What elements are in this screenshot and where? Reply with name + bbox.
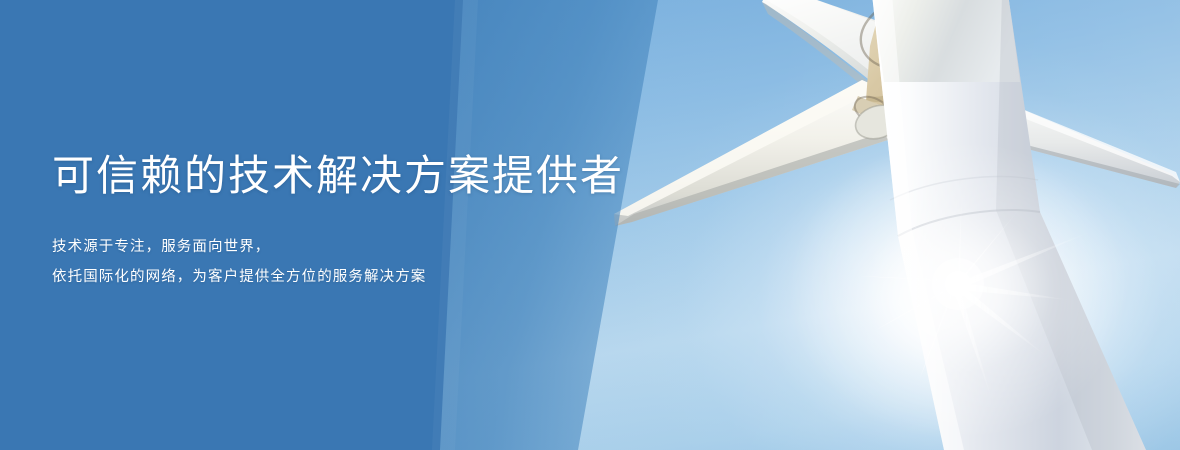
banner-headline: 可信赖的技术解决方案提供者	[52, 150, 692, 202]
sun-flare-icon	[788, 140, 1128, 440]
banner-copy: 可信赖的技术解决方案提供者 技术源于专注，服务面向世界， 依托国际化的网络，为客…	[52, 150, 692, 292]
banner-subtitle-line-1: 技术源于专注，服务面向世界，	[52, 232, 692, 262]
banner-subtitle-line-2: 依托国际化的网络，为客户提供全方位的服务解决方案	[52, 262, 692, 292]
hero-banner: 可信赖的技术解决方案提供者 技术源于专注，服务面向世界， 依托国际化的网络，为客…	[0, 0, 1180, 450]
banner-subtitle: 技术源于专注，服务面向世界， 依托国际化的网络，为客户提供全方位的服务解决方案	[52, 232, 692, 292]
